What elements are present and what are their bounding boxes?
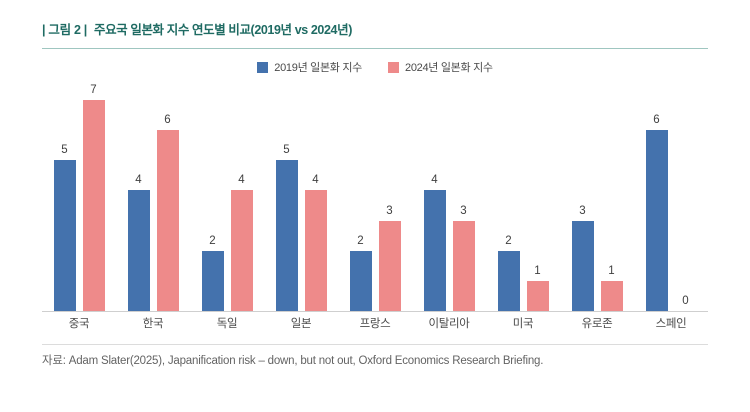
bar-group: 21 [486, 78, 560, 311]
bar-value-label: 1 [534, 264, 540, 278]
title-divider [42, 48, 708, 49]
bar-value-label: 2 [209, 234, 215, 248]
bar[interactable] [202, 251, 224, 311]
bar-value-label: 1 [608, 264, 614, 278]
x-axis-tick-label: 중국 [42, 315, 116, 331]
bar[interactable] [350, 251, 372, 311]
x-axis-tick-label: 일본 [264, 315, 338, 331]
figure-container: | 그림 2 | 주요국 일본화 지수 연도별 비교(2019년 vs 2024… [0, 0, 750, 412]
bar[interactable] [276, 160, 298, 311]
chart-plot-area: 574624542343213160 [42, 78, 708, 312]
footer-divider [42, 344, 708, 345]
figure-title: | 그림 2 | 주요국 일본화 지수 연도별 비교(2019년 vs 2024… [42, 0, 708, 41]
bar[interactable] [305, 190, 327, 311]
bar-group: 43 [412, 78, 486, 311]
bar-group: 60 [634, 78, 708, 311]
x-axis-tick-label: 독일 [190, 315, 264, 331]
bar-value-label: 0 [682, 294, 688, 308]
x-axis-tick-label: 한국 [116, 315, 190, 331]
bar[interactable] [498, 251, 520, 311]
x-axis-tick-label: 프랑스 [338, 315, 412, 331]
bar[interactable] [646, 130, 668, 311]
bar-item[interactable]: 4 [305, 78, 327, 311]
bar-item[interactable]: 5 [276, 78, 298, 311]
bar[interactable] [231, 190, 253, 311]
bar-group: 57 [42, 78, 116, 311]
bar[interactable] [424, 190, 446, 311]
bar-group: 46 [116, 78, 190, 311]
x-axis-tick-label: 스페인 [634, 315, 708, 331]
legend-item-2024: 2024년 일본화 지수 [388, 59, 493, 75]
bar-item[interactable]: 1 [527, 78, 549, 311]
x-axis-tick-label: 미국 [486, 315, 560, 331]
bar-value-label: 3 [386, 204, 392, 218]
bar-value-label: 5 [61, 143, 67, 157]
bar-group: 54 [264, 78, 338, 311]
legend-swatch-2024 [388, 62, 399, 73]
bar-item[interactable]: 3 [453, 78, 475, 311]
bar-value-label: 5 [283, 143, 289, 157]
bar-value-label: 3 [579, 204, 585, 218]
bar[interactable] [157, 130, 179, 311]
bar-item[interactable]: 0 [675, 78, 697, 311]
bar-value-label: 4 [238, 173, 244, 187]
bar-item[interactable]: 3 [379, 78, 401, 311]
bar-value-label: 4 [312, 173, 318, 187]
bar[interactable] [601, 281, 623, 311]
bar[interactable] [527, 281, 549, 311]
bar[interactable] [128, 190, 150, 311]
bar-item[interactable]: 6 [157, 78, 179, 311]
source-note: 자료: Adam Slater(2025), Japanification ri… [42, 352, 543, 368]
bar[interactable] [453, 221, 475, 311]
figure-number-tag: | 그림 2 | [42, 19, 87, 38]
legend-label-2024: 2024년 일본화 지수 [405, 59, 493, 75]
bar-value-label: 2 [357, 234, 363, 248]
bar-value-label: 3 [460, 204, 466, 218]
x-axis-labels: 중국한국독일일본프랑스이탈리아미국유로존스페인 [42, 315, 708, 331]
bar-item[interactable]: 1 [601, 78, 623, 311]
bar-group: 23 [338, 78, 412, 311]
bar-item[interactable]: 4 [231, 78, 253, 311]
legend-swatch-2019 [257, 62, 268, 73]
legend-label-2019: 2019년 일본화 지수 [274, 59, 362, 75]
bar-item[interactable]: 5 [54, 78, 76, 311]
bar[interactable] [83, 100, 105, 311]
bar-value-label: 6 [164, 113, 170, 127]
bar-groups: 574624542343213160 [42, 78, 708, 311]
bar-item[interactable]: 4 [128, 78, 150, 311]
bar-item[interactable]: 2 [202, 78, 224, 311]
bar-item[interactable]: 7 [83, 78, 105, 311]
chart-legend: 2019년 일본화 지수 2024년 일본화 지수 [0, 59, 750, 75]
x-axis-tick-label: 이탈리아 [412, 315, 486, 331]
bar-item[interactable]: 2 [498, 78, 520, 311]
bar-item[interactable]: 2 [350, 78, 372, 311]
bar-item[interactable]: 4 [424, 78, 446, 311]
x-axis-tick-label: 유로존 [560, 315, 634, 331]
bar-group: 24 [190, 78, 264, 311]
page-title: 주요국 일본화 지수 연도별 비교(2019년 vs 2024년) [94, 19, 352, 38]
bar-value-label: 6 [653, 113, 659, 127]
bar[interactable] [379, 221, 401, 311]
bar-group: 31 [560, 78, 634, 311]
bar-value-label: 4 [431, 173, 437, 187]
legend-item-2019: 2019년 일본화 지수 [257, 59, 362, 75]
bar-item[interactable]: 3 [572, 78, 594, 311]
bar-value-label: 2 [505, 234, 511, 248]
bar-item[interactable]: 6 [646, 78, 668, 311]
bar[interactable] [572, 221, 594, 311]
bar-value-label: 7 [90, 83, 96, 97]
bar[interactable] [54, 160, 76, 311]
bar-value-label: 4 [135, 173, 141, 187]
x-axis-line [42, 311, 708, 312]
